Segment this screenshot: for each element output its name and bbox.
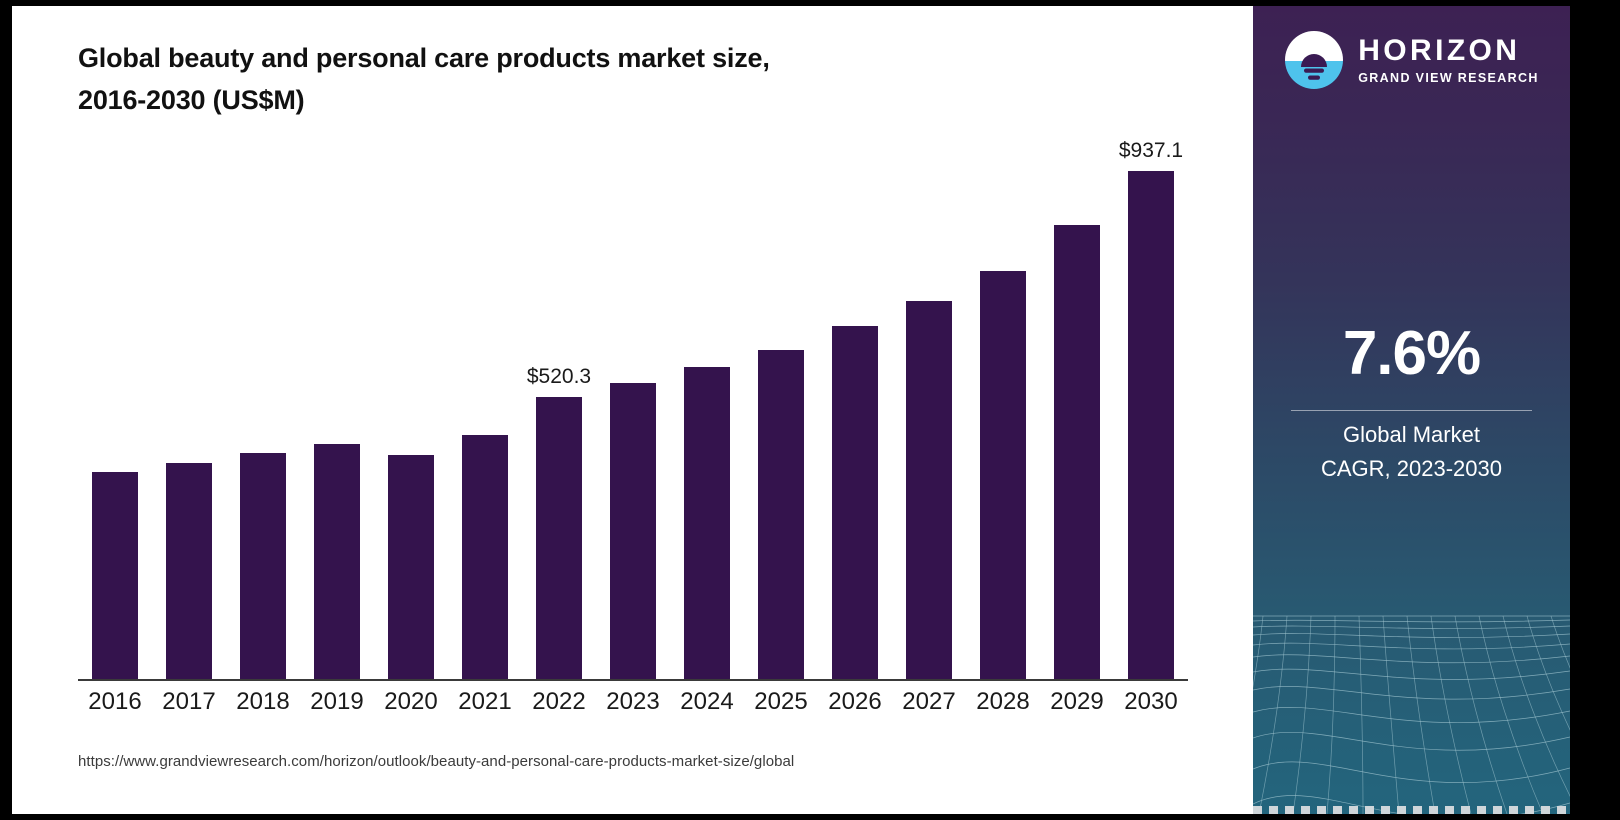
bar-2020[interactable] — [388, 455, 434, 680]
bar-slot — [966, 126, 1040, 680]
logo-lockup: HORIZON GRAND VIEW RESEARCH — [1253, 30, 1570, 90]
bar-slot — [78, 126, 152, 680]
plot-area: $520.3$937.1 — [78, 126, 1188, 680]
bar-slot — [670, 126, 744, 680]
bar-slot — [596, 126, 670, 680]
x-tick-2030: 2030 — [1114, 688, 1188, 716]
bar-2023[interactable] — [610, 383, 656, 680]
x-tick-2029: 2029 — [1040, 688, 1114, 716]
brand-sidebar: HORIZON GRAND VIEW RESEARCH 7.6% Global … — [1253, 6, 1570, 814]
bar-2022[interactable] — [536, 397, 582, 680]
bar-value-label: $937.1 — [1119, 139, 1183, 163]
cagr-value: 7.6% — [1253, 318, 1570, 389]
source-url[interactable]: https://www.grandviewresearch.com/horizo… — [78, 753, 794, 770]
x-tick-2019: 2019 — [300, 688, 374, 716]
bar-2028[interactable] — [980, 271, 1026, 680]
bar-slot — [892, 126, 966, 680]
bar-slot — [152, 126, 226, 680]
logo-title: HORIZON — [1358, 35, 1539, 67]
chart-screenshot: Global beauty and personal care products… — [0, 0, 1620, 820]
x-tick-2025: 2025 — [744, 688, 818, 716]
bar-slot — [744, 126, 818, 680]
bar-2027[interactable] — [906, 301, 952, 680]
bar-slot: $937.1 — [1114, 126, 1188, 680]
sidebar-divider — [1291, 410, 1532, 411]
x-tick-2017: 2017 — [152, 688, 226, 716]
bar-slot: $520.3 — [522, 126, 596, 680]
x-tick-2028: 2028 — [966, 688, 1040, 716]
bar-slot — [448, 126, 522, 680]
logo-wordmark: HORIZON GRAND VIEW RESEARCH — [1358, 35, 1539, 85]
bar-2026[interactable] — [832, 326, 878, 680]
x-axis-line — [78, 679, 1188, 681]
bar-slot — [226, 126, 300, 680]
bar-2021[interactable] — [462, 435, 508, 680]
bar-2019[interactable] — [314, 444, 360, 680]
bar-slot — [818, 126, 892, 680]
bar-2025[interactable] — [758, 350, 804, 680]
bottom-dash-strip — [1253, 806, 1570, 814]
bar-2024[interactable] — [684, 367, 730, 680]
bar-slot — [374, 126, 448, 680]
bar-2030[interactable] — [1128, 171, 1174, 680]
x-tick-2021: 2021 — [448, 688, 522, 716]
x-tick-2016: 2016 — [78, 688, 152, 716]
x-tick-2022: 2022 — [522, 688, 596, 716]
bar-2029[interactable] — [1054, 225, 1100, 680]
x-tick-2020: 2020 — [374, 688, 448, 716]
wireframe-mesh-decoration — [1253, 594, 1570, 814]
x-axis-tick-labels: 2016201720182019202020212022202320242025… — [78, 688, 1188, 716]
cagr-caption: Global Market CAGR, 2023-2030 — [1253, 418, 1570, 486]
x-tick-2024: 2024 — [670, 688, 744, 716]
bar-slot — [1040, 126, 1114, 680]
page-title: Global beauty and personal care products… — [78, 38, 1078, 122]
bar-value-label: $520.3 — [527, 365, 591, 389]
x-tick-2023: 2023 — [596, 688, 670, 716]
bar-2017[interactable] — [166, 463, 212, 680]
bar-series: $520.3$937.1 — [78, 126, 1188, 680]
horizon-globe-logo-icon — [1284, 30, 1344, 90]
x-tick-2026: 2026 — [818, 688, 892, 716]
bar-2018[interactable] — [240, 453, 286, 680]
bar-2016[interactable] — [92, 472, 138, 680]
logo-subtitle: GRAND VIEW RESEARCH — [1358, 71, 1539, 85]
bar-slot — [300, 126, 374, 680]
x-tick-2018: 2018 — [226, 688, 300, 716]
x-tick-2027: 2027 — [892, 688, 966, 716]
